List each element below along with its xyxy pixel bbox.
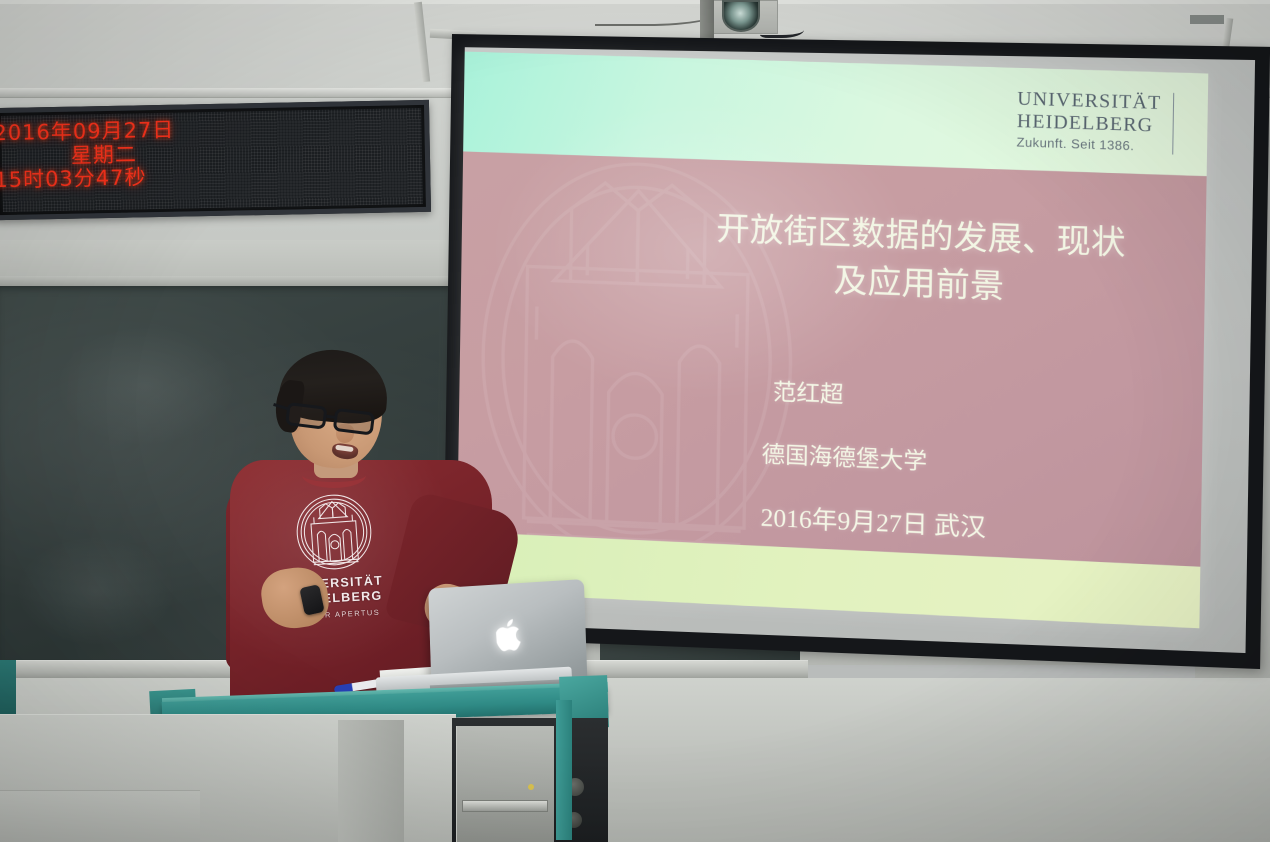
wall-sticker [1190, 15, 1224, 24]
led-date: 2016年09月27日 [0, 118, 204, 146]
desk-leg [338, 720, 404, 842]
university-logo: UNIVERSITÄT HEIDELBERG Zukunft. Seit 138… [1017, 88, 1175, 155]
logo-tagline: Zukunft. Seit 1386. [1017, 135, 1161, 154]
logo-line-2: HEIDELBERG [1017, 110, 1161, 137]
optical-drive-slot[interactable] [462, 800, 548, 812]
glasses-lens-left [285, 402, 328, 430]
camera-icon [722, 0, 760, 32]
slide-date-place: 2016年9月27日 武汉 [760, 504, 1196, 555]
slide-affiliation: 德国海德堡大学 [761, 441, 1197, 488]
side-furniture-left [0, 660, 16, 718]
apple-icon [495, 617, 526, 653]
slide-subtitle-block: 范红超 德国海德堡大学 2016年9月27日 武汉 [760, 379, 1199, 567]
slide-author: 范红超 [762, 379, 1198, 425]
tshirt-collar [302, 462, 366, 488]
power-led-icon [528, 784, 534, 790]
desk-side-panel [556, 700, 572, 840]
projected-slide: UNIVERSITÄT HEIDELBERG Zukunft. Seit 138… [456, 51, 1208, 628]
ceiling-cable-loop [760, 22, 804, 38]
desktop-tower-pc[interactable] [456, 726, 554, 842]
led-time: 15时03分47秒 [0, 165, 205, 193]
camera-bracket [700, 0, 714, 40]
led-matrix-panel: 2016年09月27日 星期二 15时03分47秒 [1, 108, 423, 212]
led-text-block: 2016年09月27日 星期二 15时03分47秒 [0, 118, 205, 193]
university-seal-icon [291, 489, 376, 574]
slide-body: 开放街区数据的发展、现状 及应用前景 范红超 德国海德堡大学 2016年9月27… [457, 151, 1206, 566]
led-date-time-display: 2016年09月27日 星期二 15时03分47秒 [0, 100, 431, 220]
glasses-lens-right [333, 408, 376, 436]
lecture-hall-scene: 2016年09月27日 星期二 15时03分47秒 UNIVERSITÄT HE… [0, 0, 1270, 842]
glasses-bridge [326, 415, 336, 419]
desk-drawer[interactable] [0, 790, 200, 842]
